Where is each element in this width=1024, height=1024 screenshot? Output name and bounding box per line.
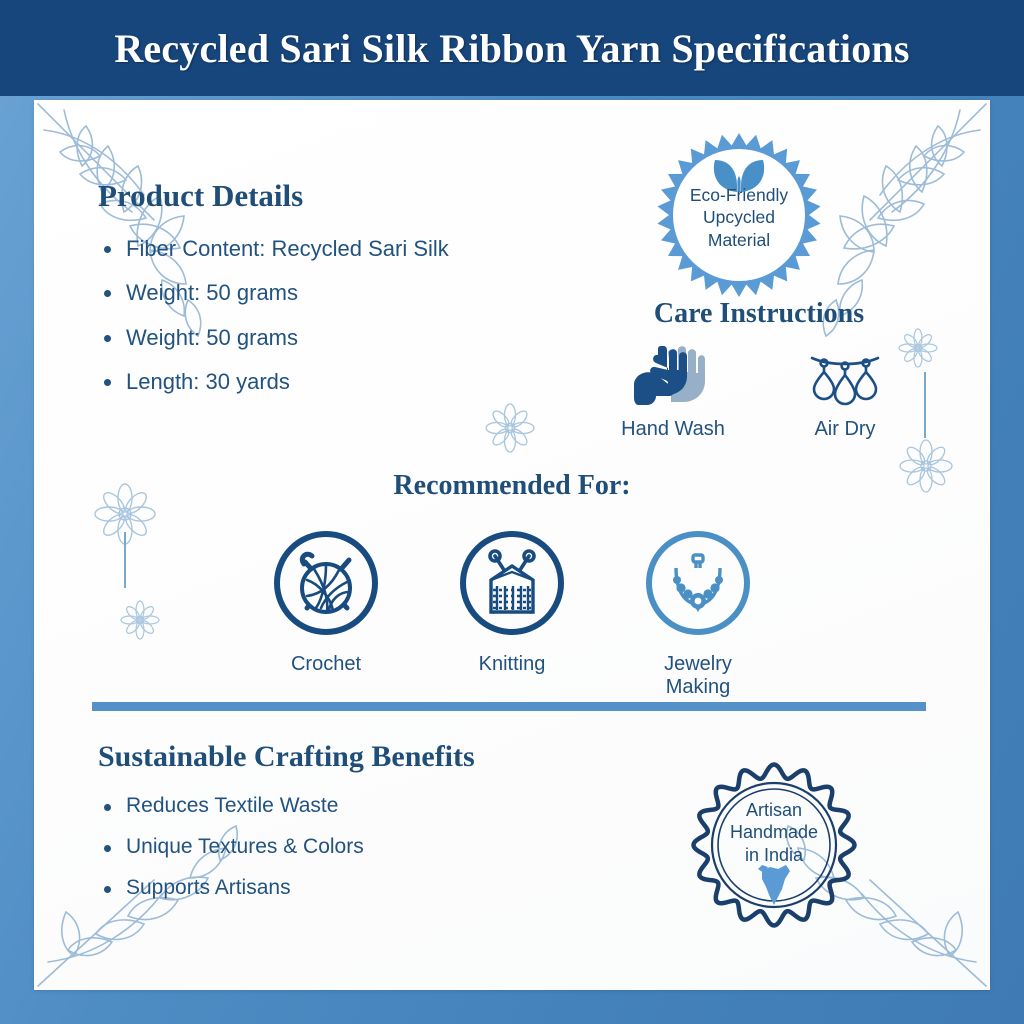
hand-wash-icon: [615, 344, 731, 410]
recommended-item-knitting: Knitting: [448, 528, 576, 699]
list-item: Reduces Textile Waste: [98, 794, 618, 818]
care-label-hand-wash: Hand Wash: [615, 418, 731, 441]
care-items-row: Hand Wash: [594, 344, 924, 441]
care-instructions-section: Care Instructions Hand Wash: [594, 298, 924, 441]
eco-badge-text: Eco-Friendly Upcycled Material: [654, 184, 824, 251]
header-bar: Recycled Sari Silk Ribbon Yarn Specifica…: [0, 0, 1024, 96]
benefits-heading: Sustainable Crafting Benefits: [98, 740, 618, 774]
infographic-poster: Recycled Sari Silk Ribbon Yarn Specifica…: [0, 0, 1024, 1024]
section-divider: [92, 702, 926, 711]
list-item: Supports Artisans: [98, 876, 618, 900]
recommended-for-section: Recommended For:: [34, 470, 990, 699]
crochet-icon: [271, 528, 381, 638]
recommended-label-crochet: Crochet: [262, 653, 390, 676]
recommended-item-crochet: Crochet: [262, 528, 390, 699]
product-details-list: Fiber Content: Recycled Sari Silk Weight…: [98, 236, 578, 394]
eco-badge-line-2: Upcycled: [654, 206, 824, 228]
care-instructions-heading: Care Instructions: [594, 298, 924, 330]
product-details-heading: Product Details: [98, 178, 578, 214]
recommended-label-jewelry: Jewelry Making: [634, 653, 762, 699]
eco-friendly-badge: Eco-Friendly Upcycled Material: [654, 130, 824, 300]
benefits-section: Sustainable Crafting Benefits Reduces Te…: [98, 740, 618, 917]
page-title: Recycled Sari Silk Ribbon Yarn Specifica…: [114, 25, 909, 72]
care-label-air-dry: Air Dry: [787, 418, 903, 441]
jewelry-icon: [643, 528, 753, 638]
recommended-for-heading: Recommended For:: [34, 470, 990, 502]
eco-badge-line-1: Eco-Friendly: [654, 184, 824, 206]
recommended-items-row: Crochet: [34, 528, 990, 699]
list-item: Weight: 50 grams: [98, 325, 578, 350]
care-item-hand-wash: Hand Wash: [615, 344, 731, 441]
air-dry-icon: [787, 344, 903, 410]
benefits-list: Reduces Textile Waste Unique Textures & …: [98, 794, 618, 900]
care-item-air-dry: Air Dry: [787, 344, 903, 441]
content-card: Product Details Fiber Content: Recycled …: [34, 100, 990, 990]
list-item: Weight: 50 grams: [98, 280, 578, 305]
list-item: Unique Textures & Colors: [98, 835, 618, 859]
recommended-item-jewelry: Jewelry Making: [634, 528, 762, 699]
list-item: Length: 30 yards: [98, 369, 578, 394]
list-item: Fiber Content: Recycled Sari Silk: [98, 236, 578, 261]
india-map-icon: [684, 755, 864, 935]
artisan-handmade-seal: Artisan Handmade in India: [684, 755, 864, 935]
product-details-section: Product Details Fiber Content: Recycled …: [98, 178, 578, 413]
eco-badge-line-3: Material: [654, 229, 824, 251]
recommended-label-knitting: Knitting: [448, 653, 576, 676]
knitting-icon: [457, 528, 567, 638]
